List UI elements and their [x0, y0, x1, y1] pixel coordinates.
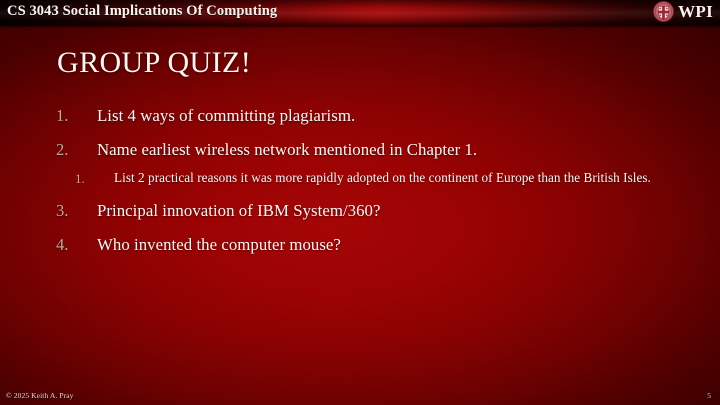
- wpi-wordmark: WPI: [678, 3, 713, 20]
- list-item-number: 2.: [56, 139, 97, 161]
- slide-title: GROUP QUIZ!: [57, 46, 251, 80]
- list-item-number: 1.: [56, 105, 97, 127]
- wpi-seal-icon: [653, 1, 674, 22]
- list-item-number: 4.: [56, 234, 97, 256]
- slide-header-bar: CS 3043 Social Implications Of Computing: [0, 0, 720, 26]
- list-item-text: Who invented the computer mouse?: [97, 234, 686, 256]
- list-item-number: 3.: [56, 200, 97, 222]
- copyright-notice: © 2025 Keith A. Pray: [6, 391, 74, 400]
- list-item-text: Name earliest wireless network mentioned…: [97, 139, 686, 161]
- page-number: 5: [707, 391, 711, 400]
- sub-list-item-text: List 2 practical reasons it was more rap…: [114, 170, 674, 187]
- course-title: CS 3043 Social Implications Of Computing: [7, 3, 277, 20]
- list-item-text: Principal innovation of IBM System/360?: [97, 200, 686, 222]
- list-item: 1. List 4 ways of committing plagiarism.: [56, 105, 686, 127]
- wpi-brand: WPI: [653, 1, 713, 22]
- list-item: 4. Who invented the computer mouse?: [56, 234, 686, 256]
- sub-list-item-number: 1.: [75, 170, 114, 187]
- list-item: 3. Principal innovation of IBM System/36…: [56, 200, 686, 222]
- quiz-question-list: 1. List 4 ways of committing plagiarism.…: [56, 105, 686, 268]
- slide-canvas: CS 3043 Social Implications Of Computing: [0, 0, 720, 405]
- list-item-text: List 4 ways of committing plagiarism.: [97, 105, 686, 127]
- sub-list-item: 1. List 2 practical reasons it was more …: [75, 170, 686, 187]
- list-item: 2. Name earliest wireless network mentio…: [56, 139, 686, 161]
